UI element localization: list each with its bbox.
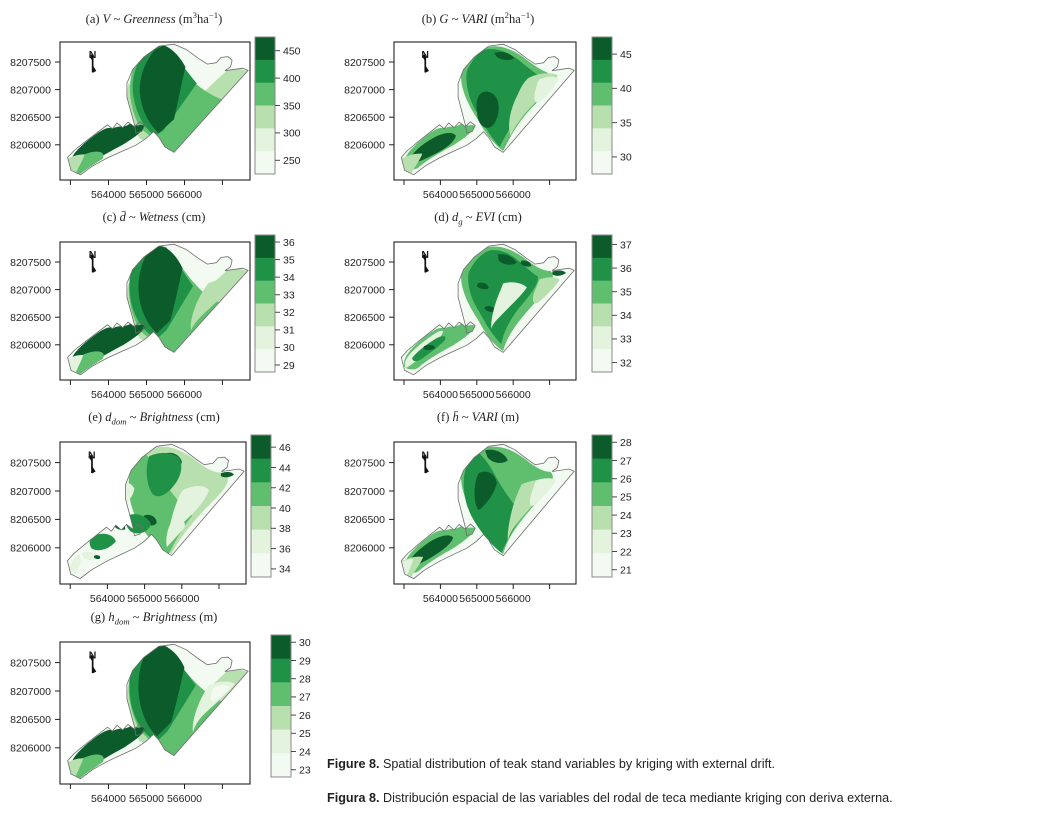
- x-axis-tick-label: 566000: [496, 189, 531, 201]
- legend-band: [255, 281, 275, 304]
- panel-f: (f) h̄ ~ VARI (m)56400056500056600082075…: [348, 404, 648, 604]
- panel-a: (a) V ~ Greenness (m3ha−1)56400056500056…: [14, 4, 314, 204]
- y-axis-tick-label: 8206000: [344, 340, 385, 352]
- caption-spanish-prefix: Figura 8.: [327, 791, 379, 805]
- legend-band: [592, 435, 612, 459]
- legend-band: [592, 258, 612, 281]
- legend-band: [592, 506, 612, 530]
- legend-band: [592, 281, 612, 304]
- legend-tick-label: 21: [620, 565, 632, 577]
- panel-b-legend: 45403530: [592, 37, 632, 174]
- legend-band: [592, 106, 612, 129]
- legend-band: [592, 459, 612, 483]
- y-axis-tick-label: 8207500: [10, 57, 51, 69]
- panel-f-title: (f) h̄ ~ VARI (m): [328, 410, 628, 425]
- legend-band: [271, 730, 291, 754]
- legend-band: [592, 151, 612, 174]
- legend-band: [255, 106, 275, 129]
- legend-tick-label: 400: [283, 73, 301, 85]
- legend-tick-label: 38: [279, 523, 291, 535]
- y-axis-tick-label: 8207000: [10, 84, 51, 96]
- x-axis-tick-label: 566000: [496, 389, 531, 401]
- panel-a-title: (a) V ~ Greenness (m3ha−1): [4, 10, 304, 27]
- legend-band: [271, 659, 291, 683]
- x-axis-tick-label: 564000: [423, 189, 458, 201]
- legend-band: [271, 706, 291, 730]
- legend-tick-label: 24: [620, 510, 632, 522]
- legend-band: [255, 128, 275, 151]
- caption-english-prefix: Figure 8.: [327, 757, 379, 771]
- legend-tick-label: 250: [283, 155, 301, 167]
- x-axis-tick-label: 565000: [129, 793, 164, 805]
- x-axis-tick-label: 564000: [423, 593, 458, 605]
- legend-tick-label: 35: [620, 286, 632, 298]
- panel-b-plot: 5640005650005660008207500820700082065008…: [348, 4, 648, 198]
- legend-tick-label: 36: [279, 543, 291, 555]
- legend-tick-label: 29: [283, 360, 295, 372]
- panel-e-legend: 46444240383634: [251, 435, 291, 577]
- caption-english: Figure 8. Spatial distribution of teak s…: [327, 752, 1032, 777]
- panel-d: (d) dg ~ EVI (cm)56400056500056600082075…: [348, 204, 648, 404]
- y-axis-tick-label: 8206500: [344, 312, 385, 324]
- panel-g-title: (g) hdom ~ Brightness (m): [4, 610, 304, 627]
- legend-tick-label: 33: [283, 290, 295, 302]
- legend-band: [592, 349, 612, 372]
- legend-tick-label: 30: [299, 637, 311, 649]
- legend-band: [251, 506, 271, 530]
- legend-band: [592, 83, 612, 106]
- y-axis-tick-label: 8206000: [10, 543, 51, 555]
- legend-band: [271, 635, 291, 659]
- panel-g-legend: 3029282726252423: [271, 635, 311, 777]
- panel-b-title: (b) G ~ VARI (m2ha−1): [328, 10, 628, 27]
- x-axis-tick-label: 566000: [167, 389, 202, 401]
- legend-tick-label: 27: [620, 455, 632, 467]
- legend-tick-label: 36: [283, 237, 295, 249]
- legend-tick-label: 26: [299, 710, 311, 722]
- y-axis-tick-label: 8207000: [10, 686, 51, 698]
- y-axis-tick-label: 8207000: [344, 284, 385, 296]
- x-axis-tick-label: 565000: [459, 389, 494, 401]
- caption-spanish: Figura 8. Distribución espacial de las v…: [327, 786, 1032, 811]
- y-axis-tick-label: 8207500: [10, 457, 51, 469]
- legend-band: [271, 682, 291, 706]
- legend-band: [592, 553, 612, 577]
- y-axis-tick-label: 8207500: [344, 57, 385, 69]
- x-axis-tick-label: 565000: [459, 189, 494, 201]
- panel-g-plot: 5640005650005660008207500820700082065008…: [14, 604, 314, 798]
- figure-caption: Figure 8. Spatial distribution of teak s…: [327, 752, 1032, 819]
- legend-band: [255, 60, 275, 83]
- legend-tick-label: 23: [299, 765, 311, 777]
- legend-band: [255, 151, 275, 174]
- legend-tick-label: 40: [620, 83, 632, 95]
- x-axis-tick-label: 565000: [129, 389, 164, 401]
- legend-tick-label: 40: [279, 503, 291, 515]
- legend-band: [271, 753, 291, 777]
- panel-a-plot: 5640005650005660008207500820700082065008…: [14, 4, 314, 198]
- panel-e: (e) ddom ~ Brightness (cm)56400056500056…: [14, 404, 314, 604]
- y-axis-tick-label: 8206000: [10, 340, 51, 352]
- x-axis-tick-label: 564000: [91, 793, 126, 805]
- caption-spanish-text: Distribución espacial de las variables d…: [379, 791, 892, 805]
- legend-tick-label: 28: [620, 437, 632, 449]
- legend-band: [592, 128, 612, 151]
- legend-tick-label: 34: [279, 564, 291, 576]
- y-axis-tick-label: 8206000: [344, 543, 385, 555]
- legend-band: [592, 326, 612, 349]
- panel-d-title: (d) dg ~ EVI (cm): [328, 210, 628, 227]
- legend-tick-label: 33: [620, 334, 632, 346]
- legend-band: [251, 530, 271, 554]
- legend-band: [255, 349, 275, 372]
- legend-tick-label: 42: [279, 483, 291, 495]
- legend-band: [255, 258, 275, 281]
- caption-english-text: Spatial distribution of teak stand varia…: [379, 757, 775, 771]
- panel-c-plot: 5640005650005660008207500820700082065008…: [14, 204, 314, 398]
- svg-text:N: N: [88, 450, 96, 462]
- legend-tick-label: 30: [620, 152, 632, 164]
- legend-tick-label: 34: [283, 272, 295, 284]
- legend-band: [255, 304, 275, 327]
- x-axis-tick-label: 566000: [167, 793, 202, 805]
- y-axis-tick-label: 8207000: [10, 486, 51, 498]
- legend-tick-label: 44: [279, 462, 291, 474]
- legend-tick-label: 32: [283, 307, 295, 319]
- legend-band: [592, 37, 612, 60]
- legend-tick-label: 26: [620, 473, 632, 485]
- legend-tick-label: 34: [620, 310, 632, 322]
- panel-g: (g) hdom ~ Brightness (m)564000565000566…: [14, 604, 314, 804]
- legend-tick-label: 28: [299, 673, 311, 685]
- x-axis-tick-label: 564000: [91, 189, 126, 201]
- x-axis-tick-label: 566000: [496, 593, 531, 605]
- legend-band: [255, 37, 275, 60]
- legend-tick-label: 450: [283, 46, 301, 58]
- legend-band: [592, 530, 612, 554]
- legend-band: [255, 235, 275, 258]
- panel-e-title: (e) ddom ~ Brightness (cm): [4, 410, 304, 427]
- y-axis-tick-label: 8207500: [344, 457, 385, 469]
- legend-tick-label: 35: [620, 117, 632, 129]
- y-axis-tick-label: 8207000: [344, 84, 385, 96]
- legend-tick-label: 36: [620, 263, 632, 275]
- panel-c-title: (c) d̄ ~ Wetness (cm): [4, 210, 304, 225]
- legend-tick-label: 300: [283, 128, 301, 140]
- y-axis-tick-label: 8206500: [344, 112, 385, 124]
- y-axis-tick-label: 8207500: [10, 657, 51, 669]
- y-axis-tick-label: 8206000: [10, 743, 51, 755]
- legend-band: [592, 304, 612, 327]
- legend-tick-label: 30: [283, 342, 295, 354]
- panel-c-legend: 3635343332313029: [255, 235, 295, 372]
- svg-text:N: N: [421, 249, 429, 261]
- legend-tick-label: 32: [620, 357, 632, 369]
- legend-tick-label: 350: [283, 100, 301, 112]
- x-axis-tick-label: 565000: [129, 189, 164, 201]
- y-axis-tick-label: 8206500: [344, 514, 385, 526]
- panel-d-legend: 373635343332: [592, 235, 632, 372]
- y-axis-tick-label: 8207000: [10, 284, 51, 296]
- legend-tick-label: 23: [620, 528, 632, 540]
- legend-tick-label: 45: [620, 49, 632, 61]
- svg-text:N: N: [421, 450, 429, 462]
- panel-b: (b) G ~ VARI (m2ha−1)5640005650005660008…: [348, 4, 648, 204]
- y-axis-tick-label: 8207500: [10, 257, 51, 269]
- legend-band: [592, 60, 612, 83]
- y-axis-tick-label: 8206000: [10, 140, 51, 152]
- svg-text:N: N: [89, 49, 97, 61]
- svg-text:N: N: [89, 249, 97, 261]
- x-axis-tick-label: 564000: [91, 389, 126, 401]
- svg-text:N: N: [421, 49, 429, 61]
- x-axis-tick-label: 565000: [459, 593, 494, 605]
- legend-tick-label: 46: [279, 442, 291, 454]
- x-axis-tick-label: 564000: [423, 389, 458, 401]
- legend-band: [592, 235, 612, 258]
- legend-tick-label: 29: [299, 655, 311, 667]
- legend-tick-label: 31: [283, 325, 295, 337]
- legend-tick-label: 25: [620, 492, 632, 504]
- panel-f-plot: 5640005650005660008207500820700082065008…: [348, 404, 648, 598]
- legend-tick-label: 37: [620, 239, 632, 251]
- legend-band: [251, 459, 271, 483]
- svg-text:N: N: [89, 650, 97, 662]
- legend-band: [255, 83, 275, 106]
- panel-d-plot: 5640005650005660008207500820700082065008…: [348, 204, 648, 398]
- legend-band: [251, 435, 271, 459]
- y-axis-tick-label: 8206500: [10, 714, 51, 726]
- legend-tick-label: 25: [299, 728, 311, 740]
- panel-f-legend: 2827262524232221: [592, 435, 632, 577]
- y-axis-tick-label: 8206500: [10, 112, 51, 124]
- x-axis-tick-label: 566000: [167, 189, 202, 201]
- panel-c: (c) d̄ ~ Wetness (cm)5640005650005660008…: [14, 204, 314, 404]
- y-axis-tick-label: 8206500: [10, 514, 51, 526]
- legend-tick-label: 22: [620, 546, 632, 558]
- y-axis-tick-label: 8206000: [344, 140, 385, 152]
- y-axis-tick-label: 8207000: [344, 486, 385, 498]
- legend-band: [251, 482, 271, 506]
- panel-e-plot: 5640005650005660008207500820700082065008…: [14, 404, 314, 598]
- y-axis-tick-label: 8207500: [344, 257, 385, 269]
- legend-tick-label: 24: [299, 746, 311, 758]
- legend-tick-label: 35: [283, 254, 295, 266]
- legend-band: [592, 482, 612, 506]
- legend-band: [255, 326, 275, 349]
- y-axis-tick-label: 8206500: [10, 312, 51, 324]
- legend-tick-label: 27: [299, 692, 311, 704]
- legend-band: [251, 553, 271, 577]
- panel-a-legend: 450400350300250: [255, 37, 301, 174]
